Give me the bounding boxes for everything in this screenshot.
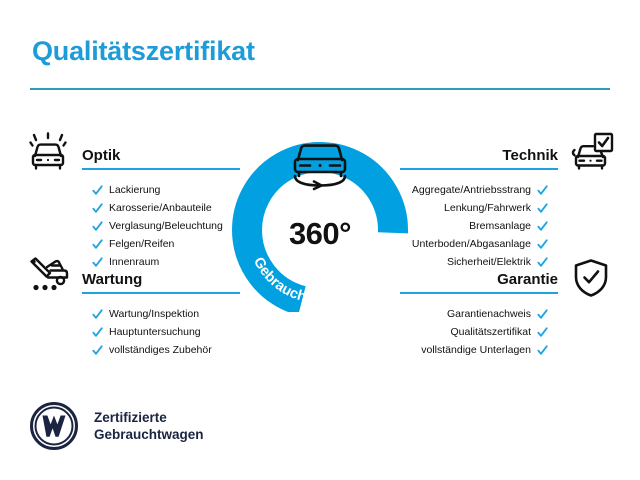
list-item-label: vollständige Unterlagen (421, 342, 531, 358)
car-checkbox-icon (570, 132, 614, 172)
section-title-technik: Technik (398, 146, 558, 166)
section-header-optik: Optik (82, 146, 242, 170)
checklist-optik: Lackierung Karosserie/Anbauteile Verglas… (82, 182, 242, 270)
section-garantie: Garantie Garantienachweis Qualitätszerti… (398, 270, 558, 374)
list-item: Hauptuntersuchung (92, 324, 242, 340)
list-item: vollständige Unterlagen (398, 342, 548, 358)
list-item: Garantienachweis (398, 306, 548, 322)
check-icon (92, 345, 103, 356)
list-item: Sicherheit/Elektrik (398, 254, 548, 270)
list-item-label: Garantienachweis (447, 306, 531, 322)
list-item-label: Bremsanlage (469, 218, 531, 234)
vw-brand-text: Zertifizierte Gebrauchtwagen (94, 409, 204, 443)
list-item: Innenraum (92, 254, 242, 270)
certificate-page: Qualitätszertifikat Optik Lackierung Kar… (0, 0, 640, 480)
list-item-label: Sicherheit/Elektrik (447, 254, 531, 270)
checklist-garantie: Garantienachweis Qualitätszertifikat vol… (398, 306, 558, 358)
check-icon (537, 221, 548, 232)
check-icon (92, 221, 103, 232)
check-icon (537, 345, 548, 356)
badge-360-gebrauchtwagen-check: Gebrauchtwagen-Check 360° (222, 112, 418, 312)
section-title-wartung: Wartung (82, 270, 242, 290)
badge-value: 360° (222, 216, 418, 252)
section-underline-garantie (400, 292, 558, 294)
list-item-label: vollständiges Zubehör (109, 342, 212, 358)
vw-brand-line1: Zertifizierte (94, 409, 204, 426)
list-item: Aggregate/Antriebsstrang (398, 182, 548, 198)
list-item: Qualitätszertifikat (398, 324, 548, 340)
checklist-wartung: Wartung/Inspektion Hauptuntersuchung vol… (82, 306, 242, 358)
section-underline-technik (400, 168, 558, 170)
list-item-label: Lackierung (109, 182, 160, 198)
check-icon (92, 185, 103, 196)
list-item-label: Qualitätszertifikat (450, 324, 531, 340)
section-wartung: Wartung Wartung/Inspektion Hauptuntersuc… (82, 270, 242, 374)
check-icon (537, 185, 548, 196)
list-item-label: Unterboden/Abgasanlage (412, 236, 531, 252)
check-icon (92, 309, 103, 320)
list-item-label: Aggregate/Antriebsstrang (412, 182, 531, 198)
section-header-wartung: Wartung (82, 270, 242, 294)
vw-logo-icon (30, 402, 78, 450)
shield-check-icon (572, 258, 610, 298)
list-item-label: Innenraum (109, 254, 159, 270)
section-technik: Technik Aggregate/Antriebsstrang Lenkung… (398, 146, 558, 286)
section-header-garantie: Garantie (398, 270, 558, 294)
list-item: Felgen/Reifen (92, 236, 242, 252)
check-icon (537, 327, 548, 338)
vw-brand-footer: Zertifizierte Gebrauchtwagen (30, 402, 204, 450)
page-title: Qualitätszertifikat (32, 36, 255, 67)
section-header-technik: Technik (398, 146, 558, 170)
list-item-label: Verglasung/Beleuchtung (109, 218, 223, 234)
vw-brand-line2: Gebrauchtwagen (94, 426, 204, 443)
list-item: Bremsanlage (398, 218, 548, 234)
title-divider (30, 88, 610, 90)
list-item: Karosserie/Anbauteile (92, 200, 242, 216)
check-icon (92, 239, 103, 250)
list-item: Lenkung/Fahrwerk (398, 200, 548, 216)
section-optik: Optik Lackierung Karosserie/Anbauteile V… (82, 146, 242, 286)
checklist-technik: Aggregate/Antriebsstrang Lenkung/Fahrwer… (398, 182, 558, 270)
list-item-label: Felgen/Reifen (109, 236, 174, 252)
check-icon (92, 327, 103, 338)
list-item-label: Hauptuntersuchung (109, 324, 201, 340)
list-item: Unterboden/Abgasanlage (398, 236, 548, 252)
list-item-label: Karosserie/Anbauteile (109, 200, 212, 216)
list-item: vollständiges Zubehör (92, 342, 242, 358)
wrench-car-icon (26, 256, 70, 296)
check-icon (537, 257, 548, 268)
section-title-optik: Optik (82, 146, 242, 166)
list-item: Verglasung/Beleuchtung (92, 218, 242, 234)
car-shine-icon (26, 132, 70, 172)
section-underline-wartung (82, 292, 240, 294)
section-underline-optik (82, 168, 240, 170)
check-icon (537, 239, 548, 250)
section-title-garantie: Garantie (398, 270, 558, 290)
check-icon (92, 257, 103, 268)
list-item: Wartung/Inspektion (92, 306, 242, 322)
list-item-label: Wartung/Inspektion (109, 306, 199, 322)
check-icon (537, 203, 548, 214)
check-icon (92, 203, 103, 214)
check-icon (537, 309, 548, 320)
list-item-label: Lenkung/Fahrwerk (444, 200, 531, 216)
list-item: Lackierung (92, 182, 242, 198)
